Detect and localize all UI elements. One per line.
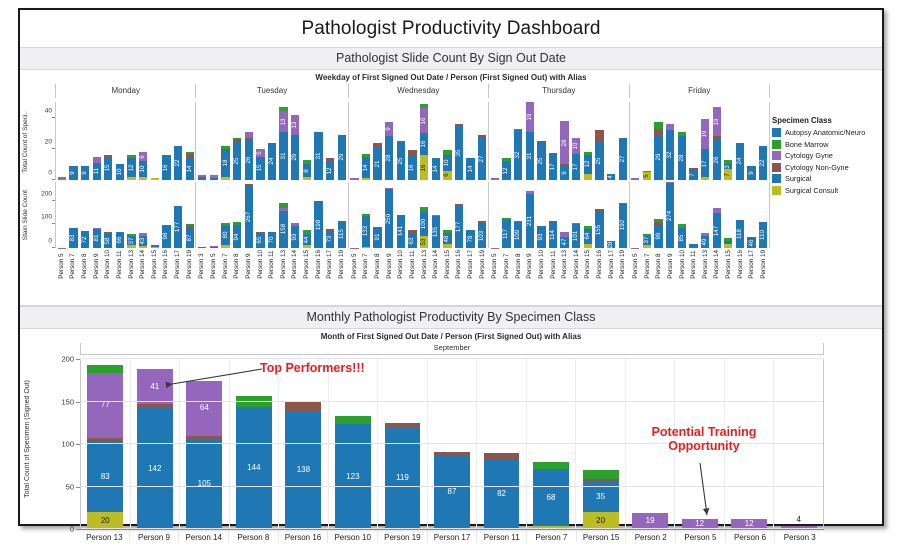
bar-segment[interactable]: 35 [583, 482, 619, 512]
bar-segment[interactable]: 21 [373, 147, 381, 180]
bar-segment[interactable]: 117 [502, 220, 510, 248]
x-axis-label[interactable]: Person 9 [243, 250, 255, 279]
bar-segment[interactable]: 19 [713, 107, 721, 137]
bar-slot[interactable]: 37 [126, 182, 138, 248]
x-axis-label[interactable]: Person 8 [654, 250, 666, 279]
bar-segment[interactable] [572, 223, 580, 224]
bar-slot[interactable]: 46 [746, 182, 758, 248]
bar-slot[interactable]: 25 [594, 102, 606, 180]
bar-segment[interactable]: 250 [385, 189, 393, 248]
bar-segment[interactable] [455, 204, 463, 206]
stacked-bar[interactable]: 14 [432, 158, 440, 180]
bar-segment[interactable] [245, 132, 253, 138]
bar-segment[interactable]: 115 [338, 221, 346, 248]
stacked-bar[interactable]: 22 [759, 146, 767, 180]
bar-segment[interactable]: 16 [420, 133, 428, 155]
x-axis-label[interactable]: Person 13 [419, 250, 431, 279]
bar-segment[interactable] [643, 245, 651, 248]
stacked-bar[interactable]: 32 [514, 129, 522, 180]
bar-slot[interactable]: 73 [324, 182, 336, 248]
stacked-bar[interactable]: 141 [397, 215, 405, 248]
bar-segment[interactable] [198, 177, 206, 179]
stacked-bar[interactable]: 138 [285, 402, 321, 529]
bar-segment[interactable]: 37 [127, 236, 135, 245]
bar-segment[interactable]: 93 [291, 226, 299, 248]
stacked-bar[interactable]: 65 [256, 232, 264, 248]
stacked-bar[interactable]: 83 [69, 228, 77, 248]
stacked-bar[interactable]: 2035 [583, 470, 619, 529]
bar-segment[interactable]: 18 [221, 149, 229, 177]
x-axis-label[interactable]: Person 19 [758, 250, 770, 279]
stacked-bar[interactable]: 1710 [572, 138, 580, 180]
bar-slot[interactable]: 72 [79, 182, 91, 248]
bar-segment[interactable] [491, 178, 499, 180]
bar-slot[interactable]: 29 [336, 102, 348, 180]
stacked-bar[interactable] [151, 178, 159, 180]
bar-slot[interactable]: 32 [512, 102, 524, 180]
bar-segment[interactable]: 81 [93, 229, 101, 248]
bar-slot[interactable]: 73 [723, 102, 735, 180]
x-axis-label[interactable]: Person 17 [747, 250, 759, 279]
stacked-bar[interactable]: 115 [338, 221, 346, 248]
stacked-bar[interactable]: 29 [654, 122, 662, 180]
stacked-bar[interactable]: 1719 [701, 119, 709, 180]
x-axis-label[interactable]: Person 13 [278, 250, 290, 279]
bar-slot[interactable]: 64 [582, 182, 594, 248]
bar-segment[interactable]: 101 [572, 224, 580, 248]
bar-slot[interactable]: 138 [279, 359, 329, 529]
bar-segment[interactable]: 10 [572, 138, 580, 154]
bar-segment[interactable]: 25 [537, 141, 545, 180]
x-axis-label[interactable]: Person 5 [208, 250, 220, 279]
bar-segment[interactable]: 94 [233, 226, 241, 248]
x-axis-label[interactable]: Person 14 [290, 250, 302, 279]
bar-segment[interactable]: 177 [174, 206, 182, 248]
bar-slot[interactable]: 16 [161, 102, 173, 180]
x-axis-label[interactable]: Person 17 [172, 250, 184, 279]
bar-slot[interactable]: 14 [184, 102, 196, 180]
bar-segment[interactable] [385, 188, 393, 189]
stacked-bar[interactable]: 87 [186, 224, 194, 248]
bar-segment[interactable] [104, 155, 112, 157]
bar-slot[interactable]: 49 [699, 182, 711, 248]
stacked-bar[interactable]: 119 [385, 423, 421, 529]
bar-segment[interactable] [689, 244, 697, 248]
bar-segment[interactable]: 29 [654, 135, 662, 180]
bar-slot[interactable]: 32 [664, 102, 676, 180]
legend-item-autopsy-anatomic-neuro[interactable]: Autopsy Anatomic/Neuro [772, 128, 884, 137]
bar-slot[interactable]: 25 [395, 102, 407, 180]
bar-segment[interactable]: 93 [537, 226, 545, 248]
bar-slot[interactable]: 117 [501, 182, 513, 248]
bar-segment[interactable] [408, 230, 416, 233]
bar-segment[interactable]: 27 [619, 138, 627, 180]
bar-segment[interactable]: 13 [279, 111, 287, 131]
bar-slot[interactable]: 9 [746, 102, 758, 180]
bar-segment[interactable]: 31 [314, 132, 322, 180]
bar-slot[interactable]: 14 [360, 102, 372, 180]
stacked-bar[interactable]: 29 [338, 135, 346, 180]
bar-segment[interactable]: 11 [93, 163, 101, 180]
bar-slot[interactable]: 12 [582, 102, 594, 180]
bar-slot[interactable]: 114 [547, 182, 559, 248]
bar-segment[interactable] [420, 207, 428, 212]
bar-segment[interactable]: 12 [584, 155, 592, 174]
x-axis-label[interactable]: Person 7 [68, 250, 80, 279]
stacked-bar[interactable]: 5 [643, 171, 651, 180]
x-axis-label[interactable]: Person 14 [712, 250, 724, 279]
stacked-bar[interactable]: 85 [678, 224, 686, 248]
bar-slot[interactable]: 91 [372, 182, 384, 248]
x-axis-label[interactable]: Person 11 [407, 250, 419, 279]
bar-slot[interactable]: 28 [605, 182, 617, 248]
bar-slot[interactable]: 289 [383, 102, 395, 180]
bar-segment[interactable]: 15 [256, 157, 264, 180]
x-axis-label[interactable]: Person 5 [490, 250, 502, 279]
stacked-bar[interactable]: 12 [326, 158, 334, 180]
bar-segment[interactable] [303, 230, 311, 235]
bar-segment[interactable]: 91 [373, 227, 381, 248]
bar-segment[interactable]: 19 [701, 119, 709, 149]
stacked-bar[interactable]: 192 [619, 203, 627, 248]
bar-segment[interactable] [654, 122, 662, 128]
bar-segment[interactable]: 105 [186, 440, 222, 529]
stacked-bar[interactable] [724, 238, 732, 248]
bar-slot[interactable]: 48 [442, 182, 454, 248]
stacked-bar[interactable]: 24 [268, 143, 276, 180]
x-axis-label[interactable]: Person 16 [313, 250, 325, 279]
bar-segment[interactable]: 66 [116, 232, 124, 248]
bar-segment[interactable] [139, 177, 147, 180]
bar-segment[interactable] [408, 150, 416, 155]
x-axis-label[interactable]: Person 2 [626, 530, 676, 542]
x-axis-label[interactable]: Person 15 [577, 530, 627, 542]
stacked-bar[interactable]: 58 [104, 232, 112, 248]
bar-segment[interactable]: 24 [736, 143, 744, 180]
bar-segment[interactable]: 133 [362, 216, 370, 247]
stacked-bar[interactable]: 35 [455, 124, 463, 180]
x-axis-label[interactable]: Person 16 [454, 250, 466, 279]
x-axis-label[interactable]: Person 7 [527, 530, 577, 542]
stacked-bar[interactable] [689, 244, 697, 248]
bar-slot[interactable]: 123 [329, 359, 379, 529]
bar-segment[interactable] [713, 136, 721, 139]
bar-segment[interactable] [350, 178, 358, 180]
bar-segment[interactable] [233, 139, 241, 141]
bar-slot[interactable]: 28 [676, 102, 688, 180]
bar-segment[interactable]: 123 [335, 424, 371, 529]
stacked-bar[interactable]: 24 [736, 143, 744, 180]
stacked-bar[interactable]: 9 [747, 166, 755, 180]
bar-slot[interactable]: 26 [243, 102, 255, 180]
bar-segment[interactable]: 77 [87, 373, 123, 438]
bar-segment[interactable]: 10 [116, 164, 124, 180]
x-axis-label[interactable]: Person 10 [328, 530, 378, 542]
stacked-bar[interactable] [350, 178, 358, 180]
bar-slot[interactable]: 147 [711, 182, 723, 248]
x-axis-label[interactable]: Person 8 [372, 250, 384, 279]
stacked-bar[interactable]: 28 [678, 132, 686, 180]
x-axis-label[interactable]: Person 13 [80, 530, 130, 542]
stacked-bar[interactable]: 43 [139, 233, 147, 248]
bar-segment[interactable] [221, 146, 229, 149]
stacked-bar[interactable]: 66 [116, 232, 124, 248]
bar-segment[interactable]: 17 [549, 153, 557, 180]
bar-segment[interactable] [210, 246, 218, 247]
legend-item-surgical[interactable]: Surgical [772, 174, 884, 183]
bar-segment[interactable] [279, 203, 287, 208]
x-axis-label[interactable]: Person 13 [700, 250, 712, 279]
bar-slot[interactable]: 231 [524, 182, 536, 248]
bar-segment[interactable] [526, 191, 534, 194]
bar-slot[interactable]: 94 [231, 182, 243, 248]
bar-segment[interactable]: 6 [139, 152, 147, 161]
x-axis-label[interactable]: Person 17 [325, 250, 337, 279]
bar-slot[interactable] [349, 102, 361, 180]
stacked-bar[interactable]: 177 [174, 206, 182, 248]
bar-slot[interactable]: 87 [184, 182, 196, 248]
stacked-bar[interactable]: 158 [279, 203, 287, 248]
bar-segment[interactable] [186, 154, 194, 159]
bar-segment[interactable] [186, 152, 194, 154]
bar-segment[interactable] [58, 177, 66, 180]
bar-slot[interactable]: 80 [220, 182, 232, 248]
bar-segment[interactable] [127, 245, 135, 248]
stacked-bar[interactable]: 106 [139, 152, 147, 180]
bar-segment[interactable]: 142 [137, 408, 173, 529]
stacked-bar[interactable]: 161616 [420, 104, 428, 180]
bar-segment[interactable]: 25 [233, 141, 241, 180]
stacked-bar[interactable]: 25 [595, 130, 603, 180]
bar-slot[interactable]: 103 [476, 182, 488, 248]
x-axis-label[interactable]: Person 5 [349, 250, 361, 279]
stacked-bar[interactable]: 7 [689, 168, 697, 180]
bar-slot[interactable]: 5 [641, 102, 653, 180]
stacked-bar[interactable]: 274 [666, 182, 674, 248]
bar-segment[interactable] [127, 177, 135, 180]
bar-segment[interactable]: 20 [87, 512, 123, 529]
x-axis-label[interactable]: Person 3 [775, 530, 824, 542]
x-axis-label[interactable]: Person 8 [79, 250, 91, 279]
x-axis-label[interactable]: Person 16 [735, 250, 747, 279]
bar-segment[interactable]: 177 [455, 206, 463, 248]
bar-slot[interactable]: 1719 [699, 102, 711, 180]
bar-slot[interactable]: 47 [559, 182, 571, 248]
stacked-bar[interactable]: 267 [245, 184, 253, 248]
bar-segment[interactable] [139, 233, 147, 235]
bar-slot[interactable]: 43 [137, 182, 149, 248]
bar-segment[interactable] [279, 107, 287, 112]
bar-segment[interactable] [362, 247, 370, 248]
bar-segment[interactable]: 99 [654, 225, 662, 248]
bar-segment[interactable]: 13 [291, 115, 299, 135]
stacked-bar[interactable] [210, 175, 218, 180]
bar-segment[interactable] [233, 225, 241, 226]
bar-slot[interactable] [149, 102, 161, 180]
stacked-bar[interactable]: 98 [162, 225, 170, 248]
bar-segment[interactable]: 35 [455, 125, 463, 180]
stacked-bar[interactable]: 231 [526, 191, 534, 248]
x-axis-label[interactable]: Person 19 [184, 250, 196, 279]
stacked-bar[interactable]: 118 [736, 220, 744, 248]
x-axis-label[interactable]: Person 17 [465, 250, 477, 279]
stacked-bar[interactable]: 25 [537, 141, 545, 180]
bar-slot[interactable]: 119 [378, 359, 428, 529]
x-axis-label[interactable]: Person 10 [536, 250, 548, 279]
bar-slot[interactable]: 158 [278, 182, 290, 248]
stacked-bar[interactable]: 155 [256, 149, 264, 180]
bar-segment[interactable] [198, 247, 206, 248]
x-axis-label[interactable]: Person 8 [229, 530, 279, 542]
stacked-bar[interactable]: 9 [69, 166, 77, 180]
bar-segment[interactable] [362, 154, 370, 157]
x-axis-label[interactable]: Person 10 [255, 250, 267, 279]
bar-slot[interactable]: 2619 [711, 102, 723, 180]
bar-segment[interactable] [93, 157, 101, 163]
bar-segment[interactable] [443, 150, 451, 155]
legend-item-cytology-gyne[interactable]: Cytology Gyne [772, 151, 884, 160]
bar-slot[interactable] [196, 182, 208, 248]
bar-segment[interactable] [701, 149, 709, 151]
bar-slot[interactable]: 155 [255, 102, 267, 180]
stacked-bar[interactable]: 99 [654, 219, 662, 248]
bar-segment[interactable] [724, 238, 732, 241]
bar-segment[interactable] [303, 160, 311, 165]
bar-slot[interactable] [208, 102, 220, 180]
bar-segment[interactable] [713, 208, 721, 213]
bar-segment[interactable]: 22 [759, 146, 767, 180]
bar-segment[interactable]: 82 [484, 459, 520, 529]
bar-segment[interactable] [533, 462, 569, 469]
stacked-bar[interactable]: 78 [466, 230, 474, 248]
stacked-bar[interactable]: 48 [443, 230, 451, 248]
bar-segment[interactable]: 6 [443, 171, 451, 180]
stacked-bar[interactable]: 37 [127, 234, 135, 248]
bar-slot[interactable]: 93 [536, 182, 548, 248]
stacked-bar[interactable]: 72 [81, 231, 89, 248]
bar-segment[interactable]: 19 [526, 102, 534, 132]
stacked-bar[interactable]: 73 [724, 160, 732, 180]
bar-segment[interactable]: 15 [104, 157, 112, 180]
x-axis-label[interactable]: Person 7 [642, 250, 654, 279]
x-axis-label[interactable]: Person 10 [677, 250, 689, 279]
stacked-bar[interactable]: 70 [268, 232, 276, 249]
stacked-bar[interactable]: 37 [643, 234, 651, 248]
bar-segment[interactable] [291, 223, 299, 226]
x-axis-label[interactable]: Person 19 [477, 250, 489, 279]
bar-slot[interactable]: 11 [91, 102, 103, 180]
stacked-bar[interactable]: 12 [584, 152, 592, 180]
bar-segment[interactable] [335, 416, 371, 424]
bar-slot[interactable]: 82 [477, 359, 527, 529]
bar-slot[interactable]: 12 [324, 102, 336, 180]
stacked-bar[interactable]: 14 [186, 152, 194, 180]
bar-segment[interactable]: 65 [256, 233, 264, 248]
x-axis-label[interactable]: Person 10 [103, 250, 115, 279]
bar-segment[interactable] [256, 232, 264, 233]
bar-segment[interactable]: 141 [397, 215, 405, 248]
bar-segment[interactable]: 53 [420, 236, 428, 248]
bar-slot[interactable]: 87 [428, 359, 478, 529]
bar-slot[interactable]: 133 [360, 182, 372, 248]
stacked-bar[interactable] [151, 245, 159, 248]
bar-slot[interactable]: 106 [137, 102, 149, 180]
bar-segment[interactable]: 87 [186, 228, 194, 248]
bar-segment[interactable]: 16 [162, 155, 170, 180]
x-axis-label[interactable]: Person 9 [384, 250, 396, 279]
bar-slot[interactable]: 18 [220, 102, 232, 180]
stacked-bar[interactable]: 10 [116, 164, 124, 180]
bar-segment[interactable] [654, 129, 662, 135]
bar-segment[interactable]: 32 [514, 130, 522, 180]
bar-segment[interactable] [560, 164, 568, 166]
stacked-bar[interactable]: 109 [514, 221, 522, 248]
bar-slot[interactable] [489, 182, 501, 248]
bar-segment[interactable]: 17 [572, 154, 580, 181]
bar-segment[interactable] [583, 470, 619, 478]
bar-segment[interactable]: 26 [713, 139, 721, 180]
x-axis-label[interactable]: Person 7 [501, 250, 513, 279]
stacked-bar[interactable]: 49 [701, 233, 709, 248]
x-axis-label[interactable]: Person 16 [279, 530, 329, 542]
x-axis-label[interactable]: Person 14 [430, 250, 442, 279]
bar-segment[interactable] [443, 244, 451, 248]
stacked-bar[interactable]: 91 [373, 227, 381, 248]
bar-segment[interactable]: 155 [595, 211, 603, 248]
bar-segment[interactable]: 147 [713, 213, 721, 248]
stacked-bar[interactable]: 14 [466, 158, 474, 180]
stacked-bar[interactable] [631, 178, 639, 180]
stacked-bar[interactable]: 135 [432, 215, 440, 248]
bar-segment[interactable] [478, 221, 486, 223]
bar-slot[interactable]: 2913 [289, 102, 301, 180]
bar-segment[interactable]: 78 [466, 230, 474, 248]
stacked-bar[interactable]: 15 [104, 155, 112, 180]
bar-segment[interactable] [643, 171, 651, 173]
bar-segment[interactable] [484, 453, 520, 460]
bar-segment[interactable]: 14 [466, 158, 474, 180]
bar-slot[interactable]: 141 [395, 182, 407, 248]
stacked-bar[interactable]: 18 [221, 146, 229, 180]
bar-segment[interactable]: 14 [432, 158, 440, 180]
stacked-bar[interactable]: 81 [93, 228, 101, 248]
x-axis-label[interactable]: Person 9 [91, 250, 103, 279]
bar-segment[interactable] [303, 177, 311, 180]
bar-segment[interactable]: 29 [338, 135, 346, 180]
stacked-bar[interactable] [198, 247, 206, 248]
stacked-bar[interactable]: 93 [537, 226, 545, 248]
bar-segment[interactable] [502, 218, 510, 220]
bar-slot[interactable]: 274 [664, 182, 676, 248]
bar-slot[interactable]: 16 [407, 102, 419, 180]
bar-slot[interactable]: 9 [79, 102, 91, 180]
bar-segment[interactable] [127, 155, 135, 158]
bar-slot[interactable]: 198 [313, 182, 325, 248]
stacked-bar[interactable]: 93 [291, 223, 299, 248]
stacked-bar[interactable]: 25 [397, 141, 405, 180]
bar-slot[interactable]: 10 [114, 102, 126, 180]
bar-slot[interactable]: 2035 [576, 359, 626, 529]
stacked-bar[interactable]: 12 [502, 158, 510, 180]
stacked-bar[interactable]: 80 [221, 223, 229, 248]
bar-slot[interactable]: 12 [501, 102, 513, 180]
bar-slot[interactable] [208, 182, 220, 248]
stacked-bar[interactable]: 2913 [291, 114, 299, 180]
stacked-bar[interactable]: 110 [759, 222, 767, 248]
bar-segment[interactable]: 24 [268, 143, 276, 180]
stacked-bar[interactable]: 32 [666, 124, 674, 180]
bar-segment[interactable]: 49 [701, 236, 709, 248]
